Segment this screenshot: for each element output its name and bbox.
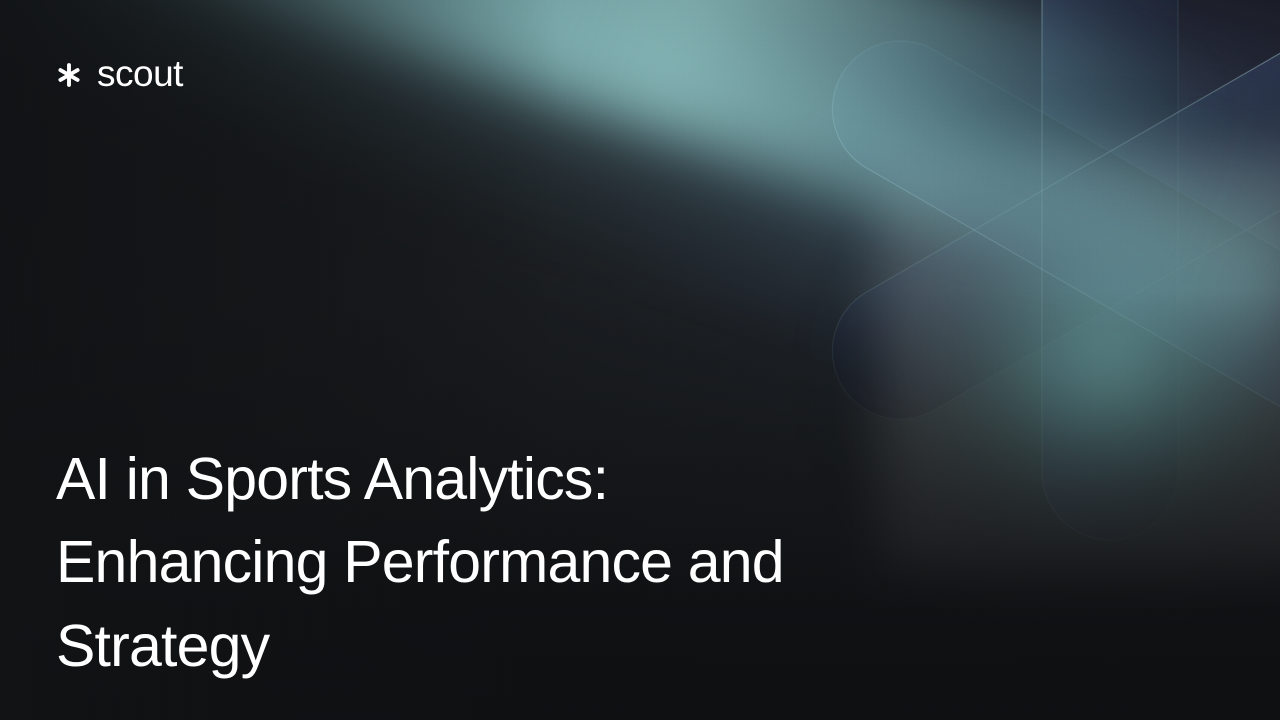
page-title: AI in Sports Analytics: Enhancing Perfor… (56, 438, 866, 689)
brand-logo[interactable]: scout (56, 55, 183, 92)
asterisk-icon (56, 62, 82, 88)
brand-name: scout (97, 55, 183, 92)
hero-banner: scout AI in Sports Analytics: Enhancing … (0, 0, 1280, 720)
